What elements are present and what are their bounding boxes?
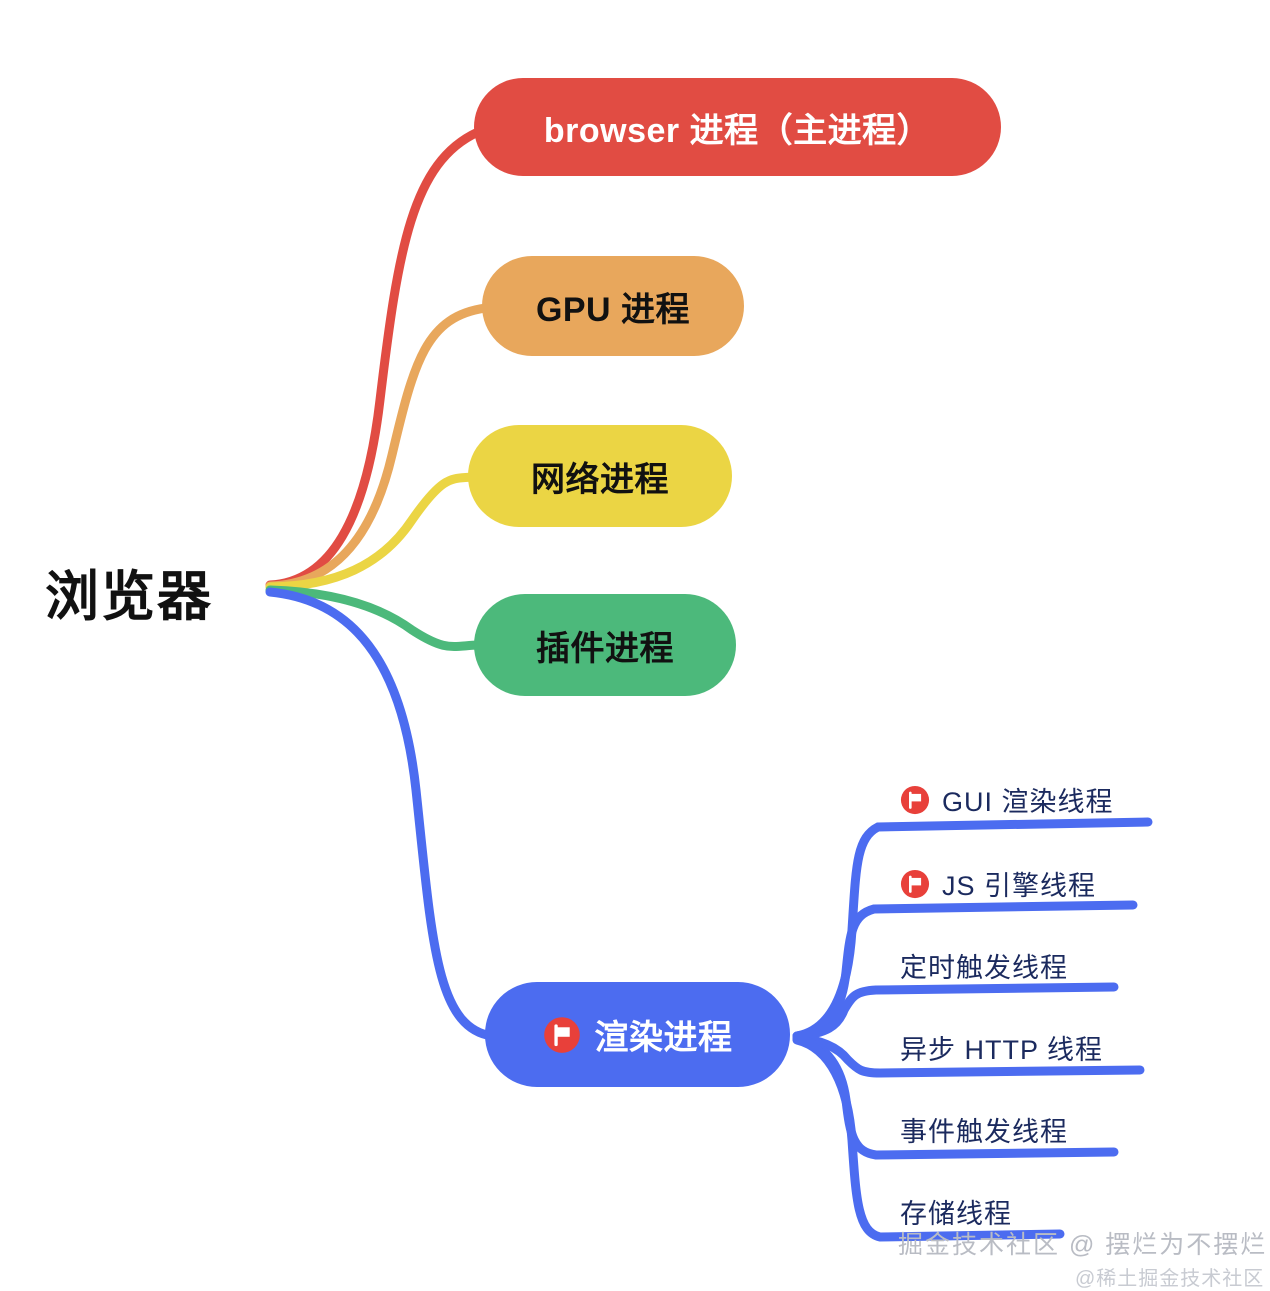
thread-item-event-trigger-label: 事件触发线程 bbox=[900, 1110, 1068, 1149]
watermark-primary: 掘金技术社区 @ 摆烂为不摆烂 bbox=[898, 1225, 1267, 1261]
branch-to-render-process bbox=[270, 592, 492, 1036]
process-node-gpu[interactable] bbox=[482, 256, 744, 356]
thread-item-event-trigger[interactable]: 事件触发线程 bbox=[900, 1110, 1068, 1149]
mindmap-diagram: 浏览器 browser 进程（主进程） GPU 进程 网络进程 插件进程 渲染进… bbox=[0, 0, 1270, 1290]
thread-item-gui-render-label: GUI 渲染线程 bbox=[942, 780, 1114, 819]
flag-icon bbox=[900, 869, 930, 899]
process-node-plugin[interactable] bbox=[474, 594, 736, 696]
watermark-secondary: @稀土掘金技术社区 bbox=[1075, 1262, 1264, 1291]
thread-item-js-engine[interactable]: JS 引擎线程 bbox=[900, 864, 1096, 903]
root-node-label: 浏览器 bbox=[45, 552, 213, 631]
process-node-network[interactable] bbox=[468, 425, 732, 527]
flag-icon bbox=[900, 785, 930, 815]
branch-to-network-process bbox=[270, 477, 472, 587]
process-node-browser[interactable] bbox=[474, 78, 1001, 176]
thread-item-async-http-label: 异步 HTTP 线程 bbox=[900, 1028, 1103, 1067]
root-branch-group bbox=[270, 132, 492, 1036]
branch-to-gpu-process bbox=[270, 308, 486, 586]
thread-item-gui-render[interactable]: GUI 渲染线程 bbox=[900, 780, 1114, 819]
thread-item-timer-label: 定时触发线程 bbox=[900, 946, 1068, 985]
thread-item-timer[interactable]: 定时触发线程 bbox=[900, 946, 1068, 985]
thread-item-async-http[interactable]: 异步 HTTP 线程 bbox=[900, 1028, 1103, 1067]
thread-item-js-engine-label: JS 引擎线程 bbox=[942, 864, 1096, 903]
process-node-renderer[interactable] bbox=[485, 982, 790, 1087]
